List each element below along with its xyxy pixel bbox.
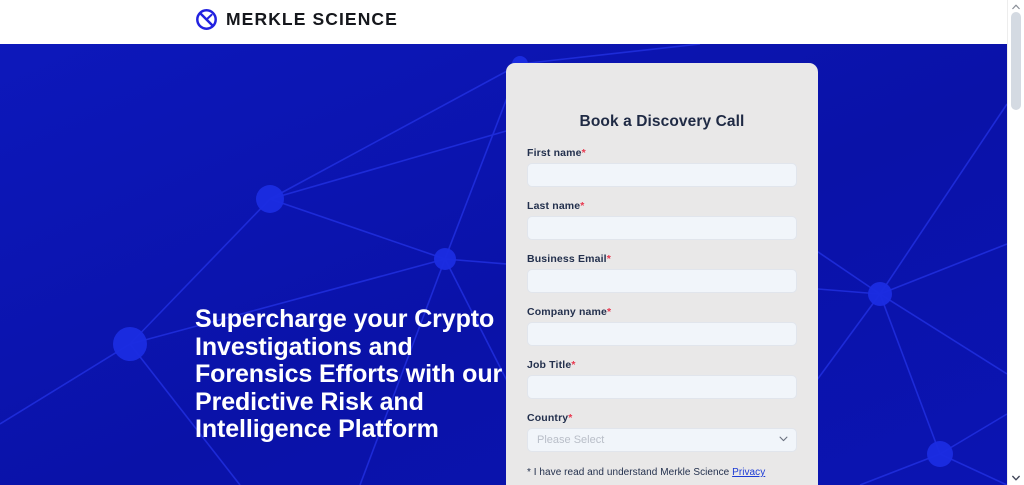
label-last-name: Last name*: [527, 200, 797, 212]
consent-text: * I have read and understand Merkle Scie…: [527, 466, 797, 480]
page-root: MERKLE SCIENCE: [0, 0, 1024, 485]
page-viewport: MERKLE SCIENCE: [0, 0, 1007, 485]
field-last-name: Last name*: [527, 200, 797, 240]
scroll-up-arrow-icon: [1012, 4, 1020, 10]
field-country: Country* Please Select: [527, 412, 797, 452]
site-header: MERKLE SCIENCE: [0, 0, 1007, 44]
country-select-wrapper: Please Select: [527, 428, 797, 452]
consent-prefix: * I have read and understand Merkle Scie…: [527, 467, 732, 478]
required-asterisk: *: [607, 306, 611, 318]
merkle-circle-slash-icon: [195, 8, 218, 31]
input-business-email[interactable]: [527, 269, 797, 293]
field-first-name: First name*: [527, 147, 797, 187]
label-job-title: Job Title*: [527, 359, 797, 371]
hero-headline: Supercharge your Crypto Investigations a…: [195, 306, 525, 444]
required-asterisk: *: [582, 147, 586, 159]
input-first-name[interactable]: [527, 163, 797, 187]
label-company-name: Company name*: [527, 306, 797, 318]
field-job-title: Job Title*: [527, 359, 797, 399]
input-company-name[interactable]: [527, 322, 797, 346]
label-country: Country*: [527, 412, 797, 424]
label-business-email: Business Email*: [527, 253, 797, 265]
field-business-email: Business Email*: [527, 253, 797, 293]
scrollbar-thumb[interactable]: [1011, 12, 1021, 110]
discovery-call-form-card: Book a Discovery Call First name* Last n…: [506, 63, 818, 485]
required-asterisk: *: [568, 412, 572, 424]
required-asterisk: *: [607, 253, 611, 265]
brand-logo[interactable]: MERKLE SCIENCE: [195, 8, 398, 31]
brand-name: MERKLE SCIENCE: [226, 8, 398, 31]
form-title: Book a Discovery Call: [506, 113, 818, 131]
label-first-name: First name*: [527, 147, 797, 159]
select-country[interactable]: Please Select: [527, 428, 797, 452]
scroll-down-arrow-icon: [1012, 475, 1020, 481]
vertical-scrollbar[interactable]: [1007, 0, 1024, 485]
hero-section: Supercharge your Crypto Investigations a…: [0, 44, 1007, 485]
field-company-name: Company name*: [527, 306, 797, 346]
required-asterisk: *: [580, 200, 584, 212]
required-asterisk: *: [571, 359, 575, 371]
input-job-title[interactable]: [527, 375, 797, 399]
scroll-down-button[interactable]: [1008, 471, 1024, 485]
input-last-name[interactable]: [527, 216, 797, 240]
privacy-policy-link[interactable]: Privacy: [732, 467, 765, 478]
